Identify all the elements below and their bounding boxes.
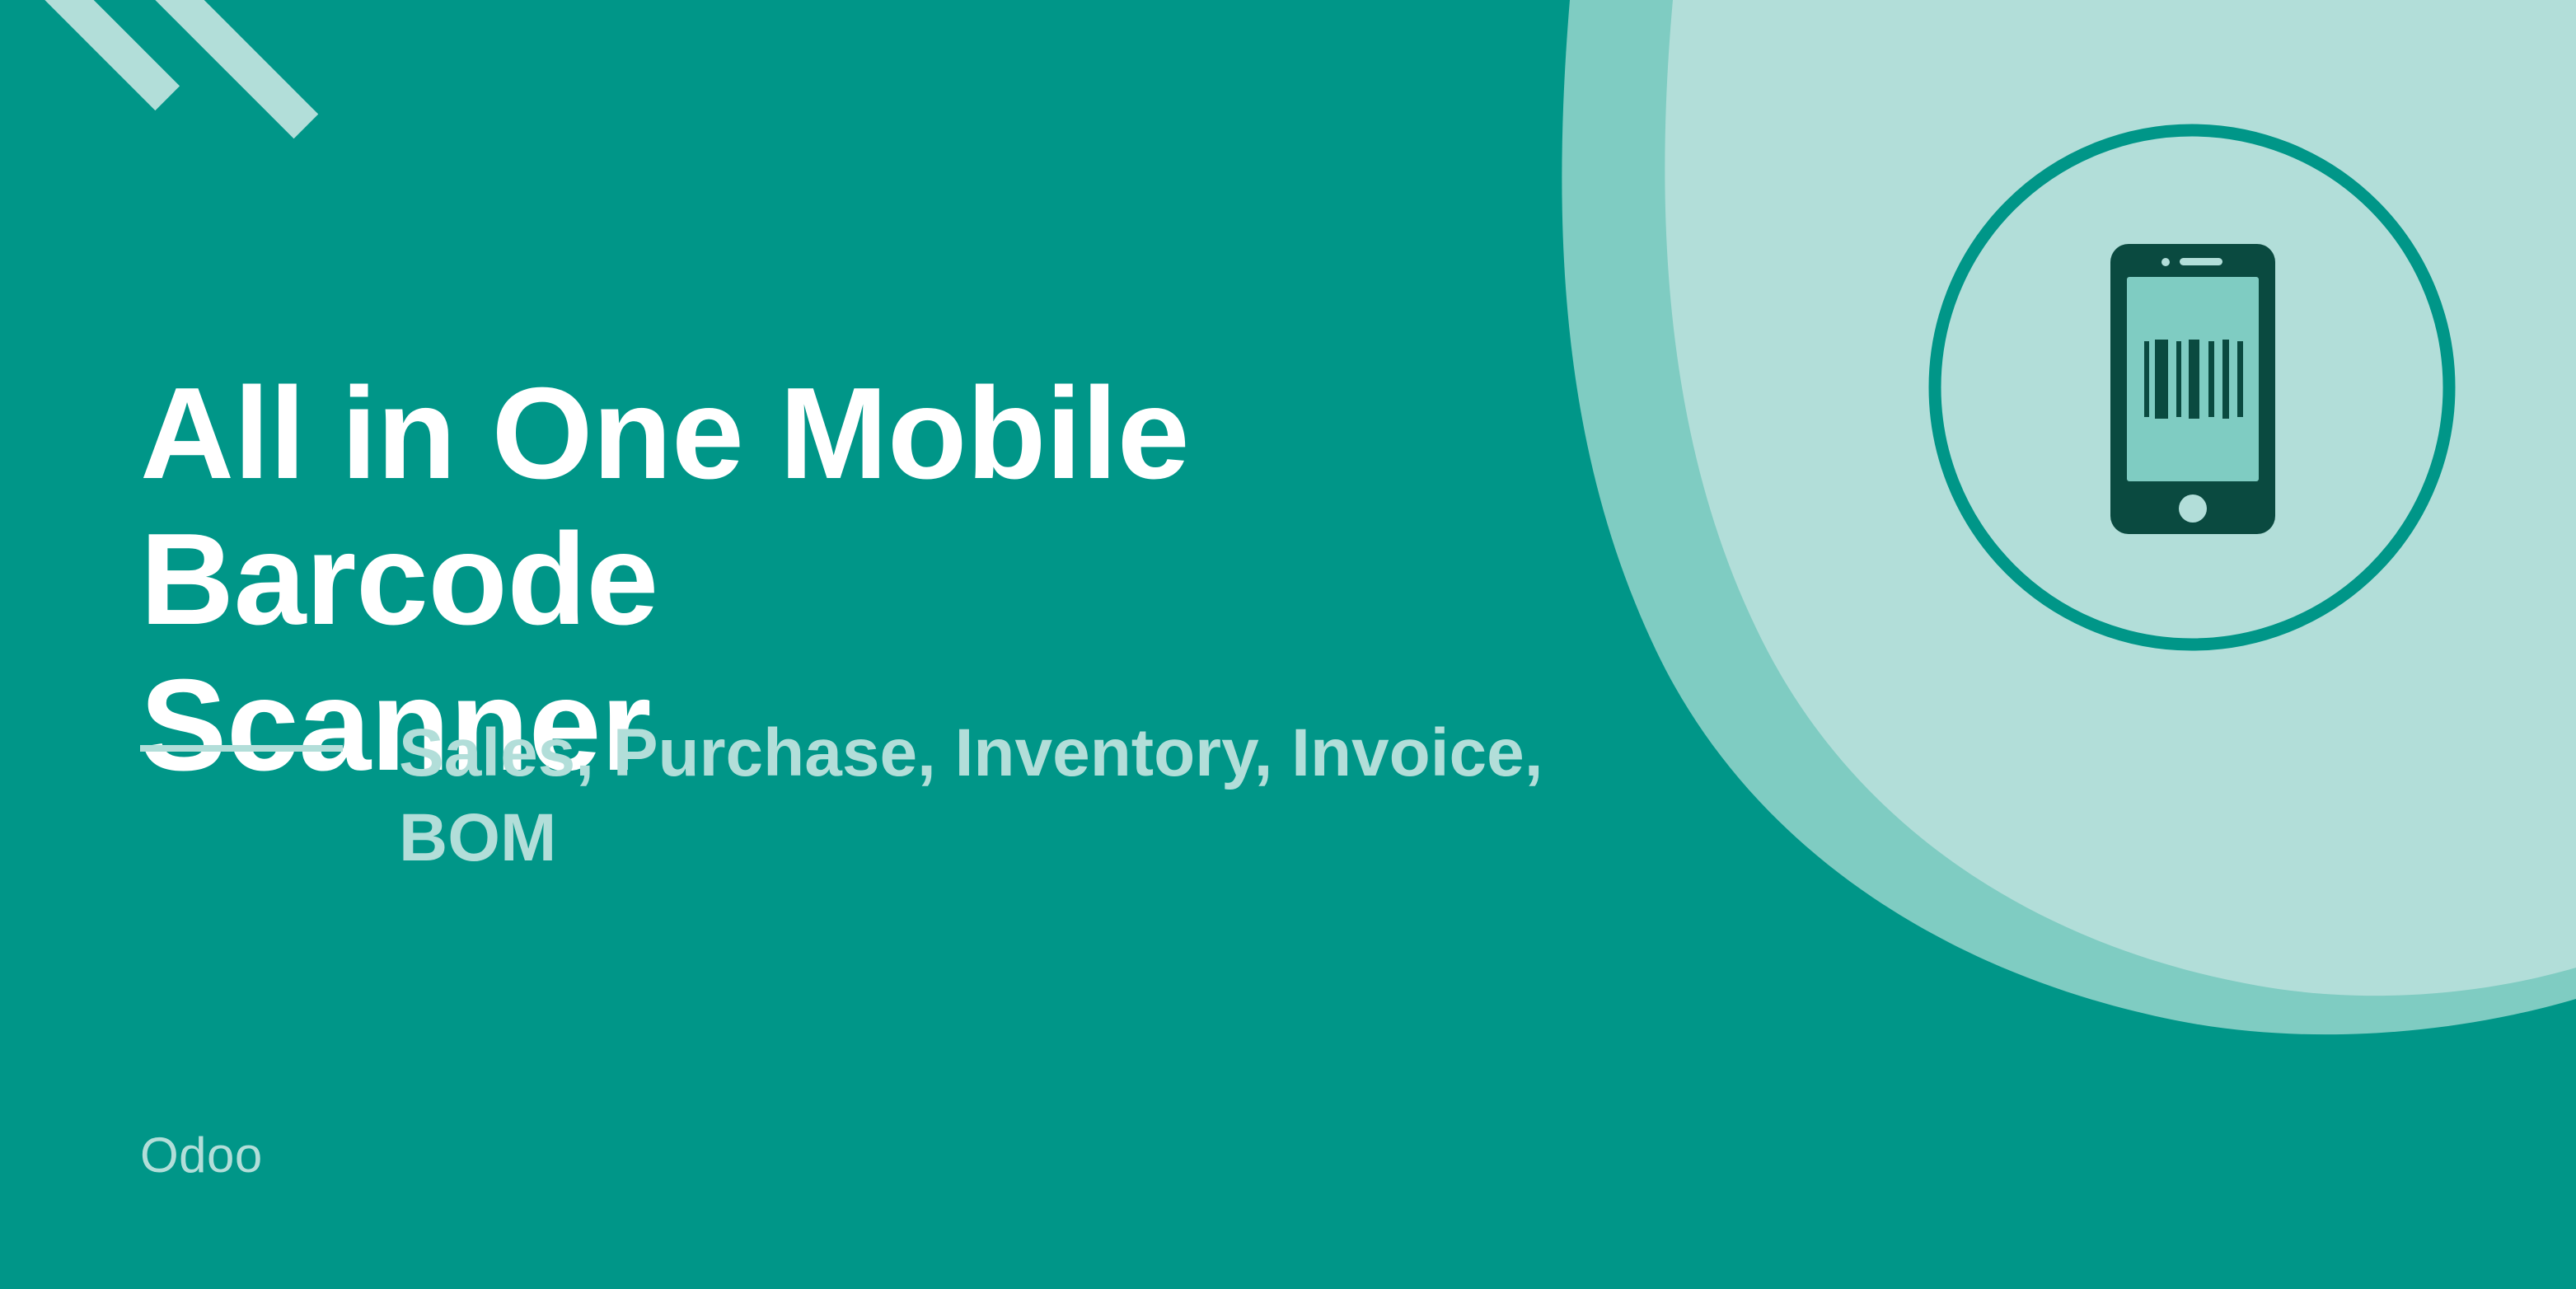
barcode-bar (2189, 340, 2199, 419)
barcode-glyph (2144, 340, 2243, 419)
page-subtitle: Sales, Purchase, Inventory, Invoice, BOM (399, 710, 1750, 881)
brand-label: Odoo (140, 1131, 263, 1180)
barcode-bar (2208, 341, 2214, 417)
phone-camera-dot (2161, 258, 2170, 266)
text-content-block: All in One Mobile Barcode Scanner Sales,… (140, 0, 1747, 1289)
subtitle-rule-divider (140, 745, 343, 752)
barcode-bar (2222, 340, 2229, 419)
barcode-bar (2144, 341, 2149, 417)
barcode-bar (2176, 341, 2181, 417)
barcode-bar (2155, 340, 2168, 419)
phone-home-button (2179, 495, 2207, 523)
phone-speaker-slot (2180, 258, 2222, 265)
barcode-bar (2237, 341, 2243, 417)
slide-canvas: All in One Mobile Barcode Scanner Sales,… (0, 0, 2576, 1289)
subtitle-row: Sales, Purchase, Inventory, Invoice, BOM (140, 710, 1722, 881)
